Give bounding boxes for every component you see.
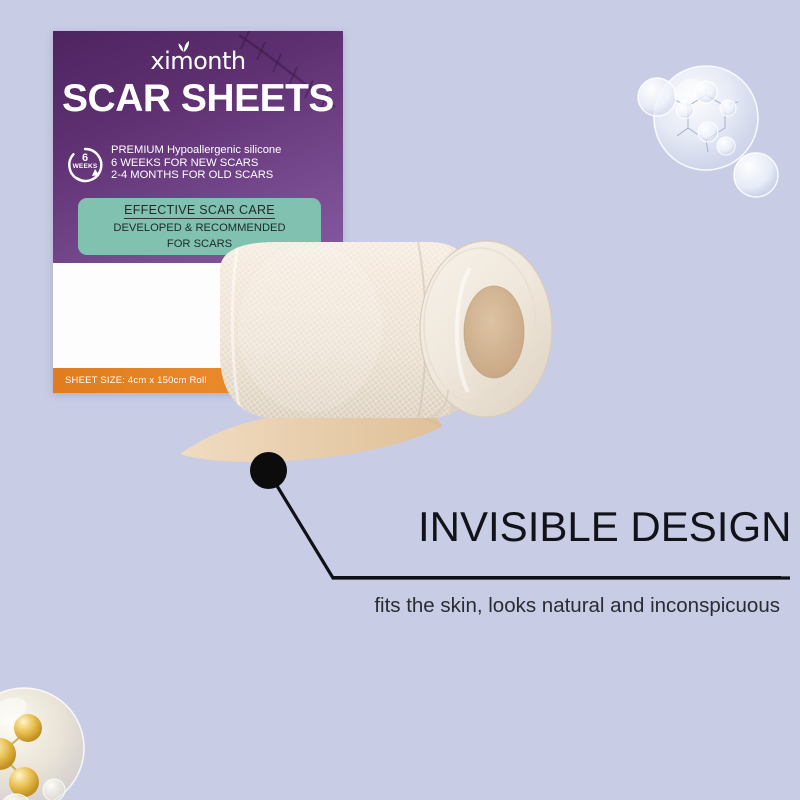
callout-dot xyxy=(250,452,287,489)
brand-logo-text: ximonth xyxy=(150,47,245,75)
subheadline: fits the skin, looks natural and inconsp… xyxy=(260,592,780,620)
claim-1: 6 WEEKS FOR NEW SCARS xyxy=(111,157,281,170)
claims-list: PREMIUM Hypoallergenic silicone 6 WEEKS … xyxy=(111,144,281,182)
brand-logo: ximonth xyxy=(53,47,343,75)
headline-divider xyxy=(333,576,781,579)
claim-0: PREMIUM Hypoallergenic silicone xyxy=(111,144,281,157)
panel-heading: EFFECTIVE SCAR CARE xyxy=(124,203,275,219)
badge-unit: WEEKS xyxy=(65,164,105,171)
leaf-sprout-icon xyxy=(176,40,192,52)
clear-molecule-bubble-icon xyxy=(630,62,790,202)
package-title: SCAR SHEETS xyxy=(53,79,343,118)
poster-canvas: ximonth SCAR SHEETS 6 WEEKS PREMIUM Hypo… xyxy=(0,0,800,800)
gold-molecule-bubble-icon xyxy=(0,682,132,800)
claim-2: 2-4 MONTHS FOR OLD SCARS xyxy=(111,169,281,182)
claims-row: 6 WEEKS PREMIUM Hypoallergenic silicone … xyxy=(65,144,335,185)
headline: INVISIBLE DESIGN xyxy=(418,506,791,548)
six-weeks-badge: 6 WEEKS xyxy=(65,145,105,185)
